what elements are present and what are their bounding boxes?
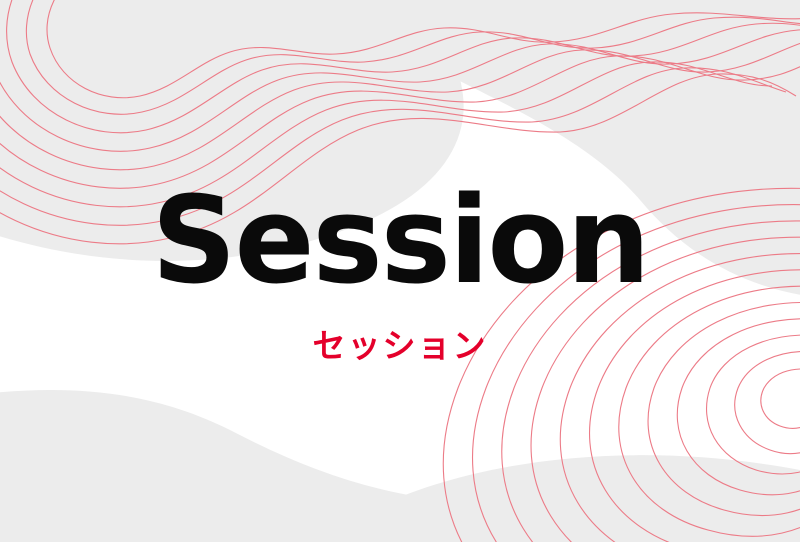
card-content: Session セッション: [0, 0, 800, 542]
page-subtitle: セッション: [313, 329, 488, 362]
page-title: Session: [151, 179, 648, 299]
session-card: Session セッション: [0, 0, 800, 542]
